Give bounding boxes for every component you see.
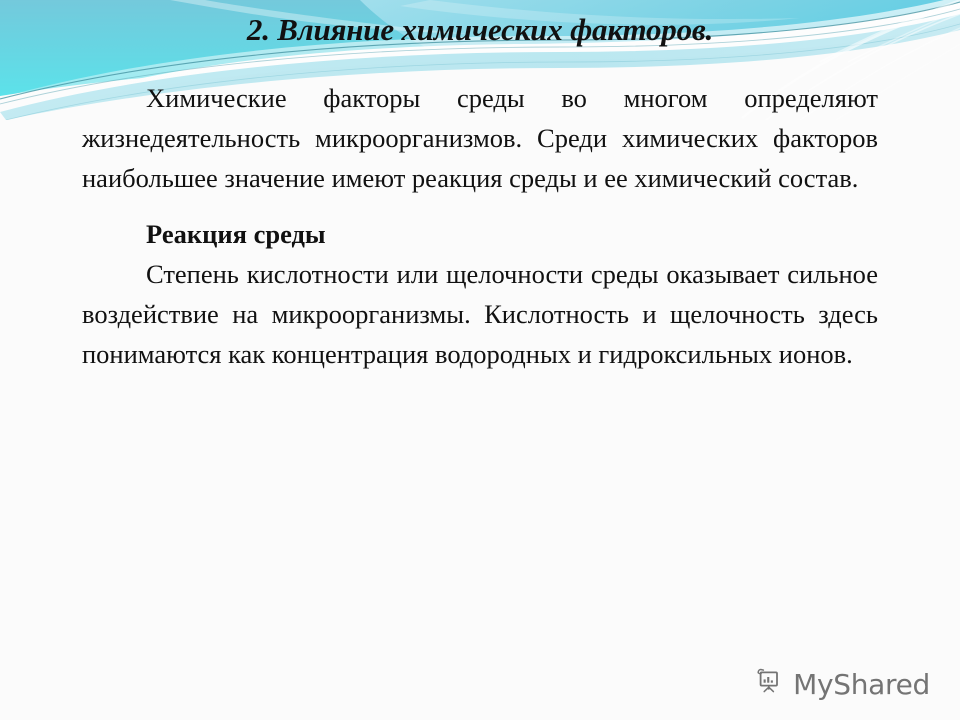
myshared-watermark[interactable]: MyShared bbox=[754, 667, 930, 702]
myshared-label: MyShared bbox=[793, 671, 930, 699]
slide-canvas: 2. Влияние химических факторов. Химическ… bbox=[0, 0, 960, 720]
presentation-chart-icon bbox=[754, 667, 784, 702]
slide-body: Химические факторы среды во многом опред… bbox=[82, 78, 878, 374]
section-heading-reaction-of-medium: Реакция среды bbox=[82, 214, 878, 254]
paragraph-chemical-factors: Химические факторы среды во многом опред… bbox=[82, 78, 878, 198]
paragraph-spacer bbox=[82, 198, 878, 214]
page-title: 2. Влияние химических факторов. bbox=[0, 12, 960, 48]
paragraph-acidity-alkalinity: Степень кислотности или щелочности среды… bbox=[82, 254, 878, 374]
